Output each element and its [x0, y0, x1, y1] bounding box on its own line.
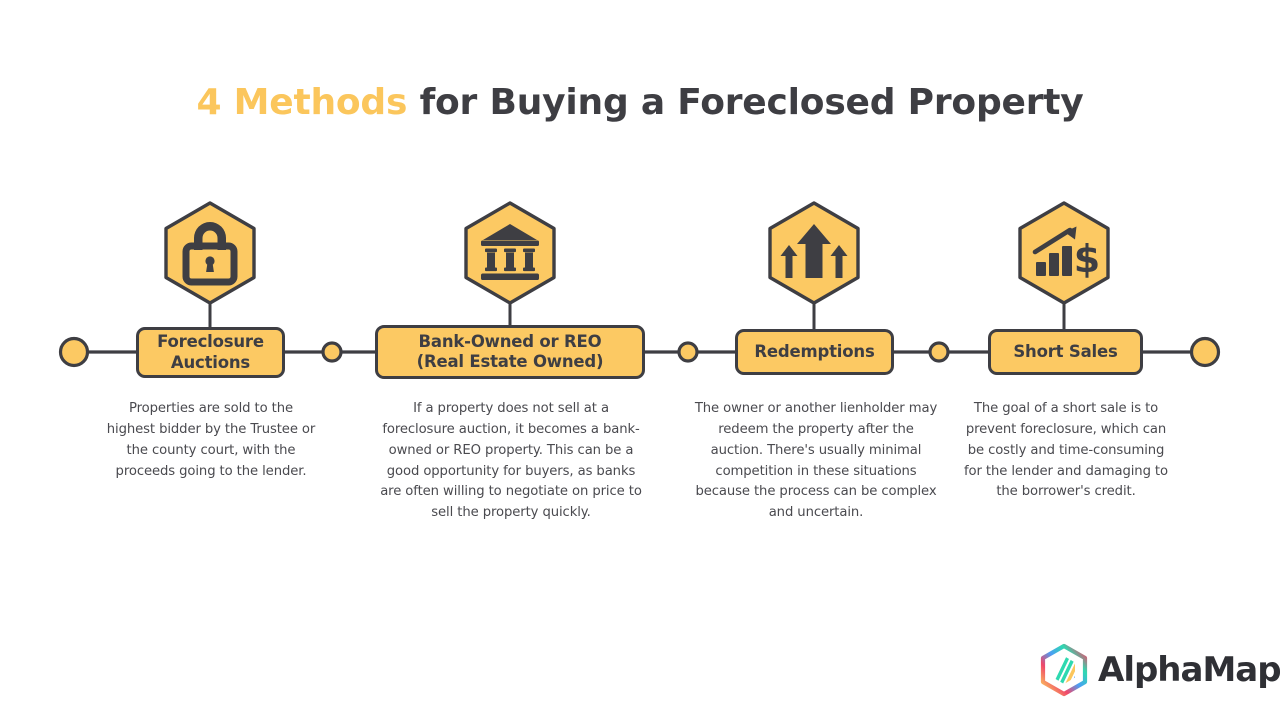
step-4-label-line-1: Short Sales: [1013, 342, 1117, 362]
timeline-endpoint-left: [61, 339, 88, 366]
step-1-hexagon: [166, 203, 254, 303]
step-2-description: If a property does not sell at a foreclo…: [375, 399, 647, 524]
step-1-label-line-1: Foreclosure: [157, 332, 264, 352]
alphamap-logo: AlphaMap: [1036, 641, 1272, 699]
arrows-up-icon: [781, 224, 848, 278]
step-4-description: The goal of a short sale is to prevent f…: [960, 399, 1172, 503]
infographic-page: 4 Methods for Buying a Foreclosed Proper…: [0, 0, 1280, 720]
step-1-description: Properties are sold to the highest bidde…: [104, 399, 318, 482]
page-title-accent: 4 Methods: [196, 82, 407, 123]
step-4-label-box[interactable]: Short Sales: [988, 329, 1143, 375]
timeline-endpoint-right: [1192, 339, 1219, 366]
alphamap-logo-text: AlphaMap: [1098, 653, 1280, 687]
lock-icon: [186, 222, 234, 282]
step-3-label-box[interactable]: Redemptions: [735, 329, 894, 375]
step-2-label-box[interactable]: Bank-Owned or REO (Real Estate Owned): [375, 325, 645, 379]
step-4-hexagon: $: [1020, 203, 1108, 303]
timeline-node-3: [930, 343, 948, 361]
step-3-description: The owner or another lienholder may rede…: [694, 399, 938, 524]
step-3-label-line-1: Redemptions: [754, 342, 874, 362]
page-title: 4 Methods for Buying a Foreclosed Proper…: [0, 82, 1280, 123]
timeline-node-1: [323, 343, 341, 361]
timeline-node-2: [679, 343, 697, 361]
bar-chart-dollar-icon: $: [1035, 227, 1100, 282]
step-3-hexagon: [770, 203, 858, 303]
page-title-rest: for Buying a Foreclosed Property: [407, 82, 1083, 123]
step-2-label-line-1: Bank-Owned or REO: [417, 332, 604, 352]
svg-text:$: $: [1074, 237, 1100, 281]
step-1-label-line-2: Auctions: [157, 353, 264, 373]
step-1-label-box[interactable]: Foreclosure Auctions: [136, 327, 285, 378]
bank-icon: [481, 224, 539, 280]
step-2-hexagon: [466, 203, 554, 303]
alphamap-hexagon-icon: [1036, 642, 1092, 698]
step-2-label-line-2: (Real Estate Owned): [417, 352, 604, 372]
